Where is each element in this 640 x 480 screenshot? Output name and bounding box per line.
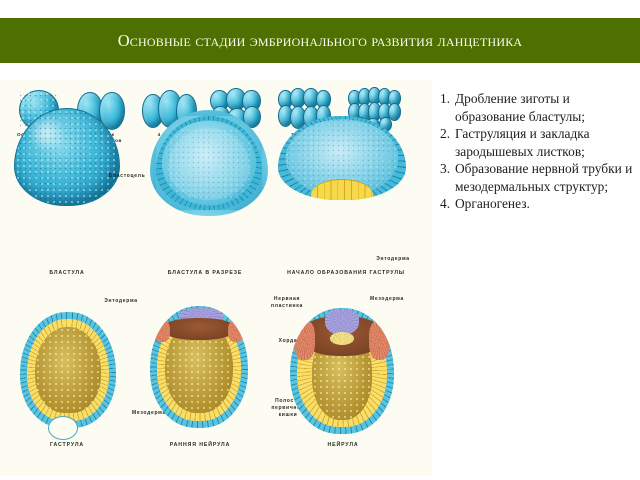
blastoderm-cell-ring [150, 110, 268, 216]
stages-text-panel: 1. Дробление зиготы и образование бласту… [440, 90, 636, 213]
gastrula-blastopore [48, 416, 78, 440]
caption-blastula: Бластула [24, 270, 110, 277]
caption-blastula-section: Бластула в разрезе [146, 270, 264, 277]
list-item: 2. Гаструляция и закладка зародышевых ли… [440, 125, 636, 160]
annotation-blastocoel: Бластоцель [96, 173, 158, 180]
list-item-text: Образование нервной трубки и мезодермаль… [455, 160, 636, 195]
caption-gastrula: Гаструла [24, 442, 110, 449]
embryo-development-illustration: Оплодотво- ренное яйцо 2 клеток -бластом… [0, 80, 432, 476]
neurula-mesoderm-left [294, 320, 315, 360]
list-item-number: 2. [440, 125, 455, 160]
list-item: 1. Дробление зиготы и образование бласту… [440, 90, 636, 125]
annotation-endoderm-row3: Энтодерма [90, 298, 152, 305]
list-item-text: Гаструляция и закладка зародышевых листк… [455, 125, 636, 160]
early-neurula-archenteron [162, 318, 236, 340]
neurula [290, 308, 394, 434]
caption-early-gastrula: Начало образования гаструлы [268, 270, 424, 277]
caption-early-neurula: Ранняя нейрула [146, 442, 254, 449]
list-item-number: 1. [440, 90, 455, 125]
page-title: Основные стадии эмбрионального развития … [118, 31, 523, 51]
blastula-cell-texture [15, 109, 119, 205]
caption-neurula: Нейрула [300, 442, 386, 449]
annotation-neural-plate: Нервная пластинка [252, 296, 322, 310]
slide-root: Основные стадии эмбрионального развития … [0, 0, 640, 480]
stages-list: 1. Дробление зиготы и образование бласту… [440, 90, 636, 213]
list-item-text: Органогенез. [455, 195, 636, 213]
gastrula [20, 312, 116, 428]
chorda [330, 332, 355, 345]
early-gastrula [278, 116, 406, 200]
blastula-section [150, 110, 268, 216]
list-item-text: Дробление зиготы и образование бластулы; [455, 90, 636, 125]
mesoderm-early-right [228, 320, 244, 342]
blastula-whole [14, 108, 120, 206]
list-item: 3. Образование нервной трубки и мезодерм… [440, 160, 636, 195]
slide-title-band: Основные стадии эмбрионального развития … [0, 18, 640, 63]
mesoderm-early-left [154, 320, 170, 342]
gastrula-primary-gut [35, 327, 101, 413]
list-item: 4. Органогенез. [440, 195, 636, 213]
early-neurula [150, 306, 248, 428]
annotation-endoderm-row2: Энтодерма [358, 256, 428, 263]
list-item-number: 4. [440, 195, 455, 213]
neurula-mesoderm-right [369, 320, 390, 360]
list-item-number: 3. [440, 160, 455, 195]
annotation-mesoderm-row3-right: Мезодерма [352, 296, 422, 303]
